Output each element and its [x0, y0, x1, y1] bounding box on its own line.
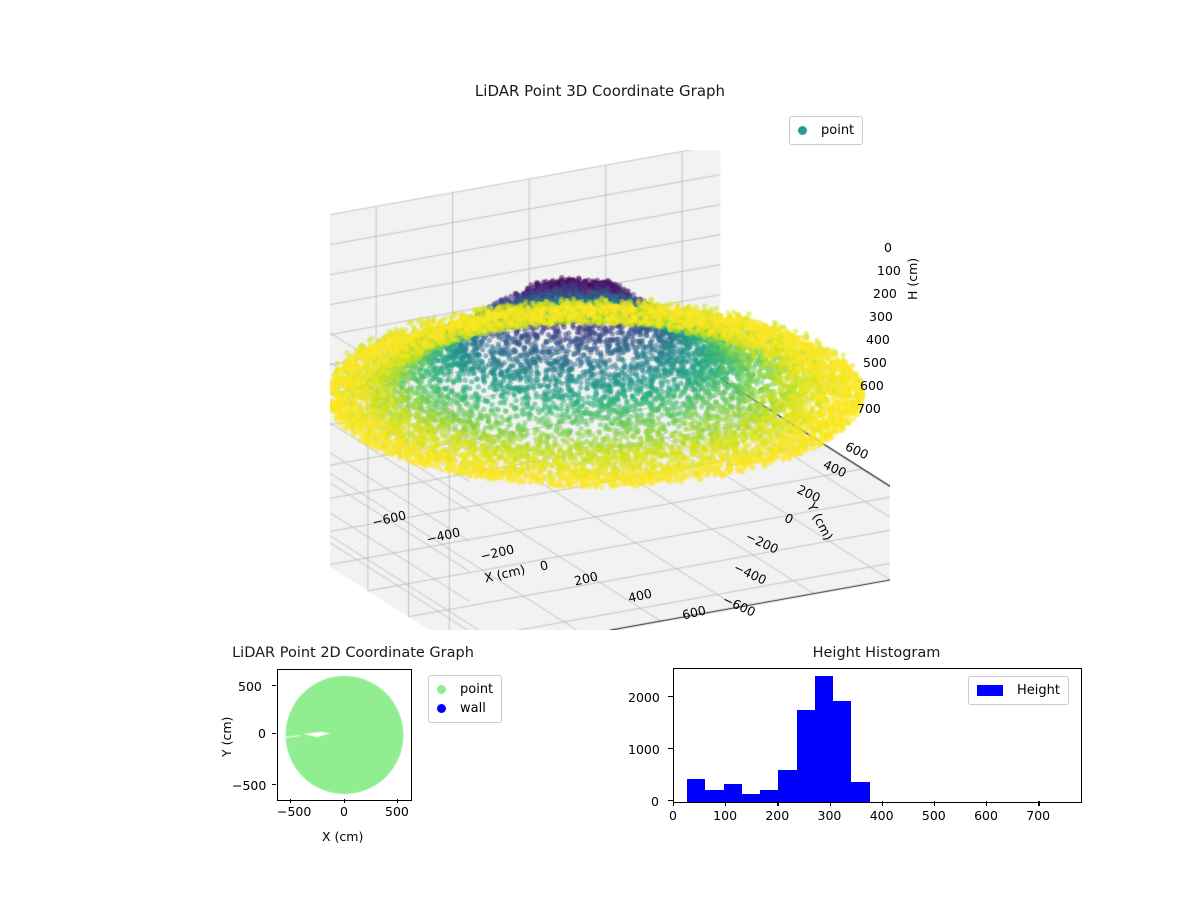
legend-item-point: point — [437, 680, 493, 699]
tick-mark — [934, 801, 935, 806]
histogram-x-tick: 200 — [765, 808, 789, 823]
histogram-legend: Height — [968, 676, 1069, 705]
tick-mark — [830, 801, 831, 806]
plot2d-y-tick: 500 — [238, 679, 262, 694]
legend-item-point: point — [798, 121, 854, 140]
plot3d-title: LiDAR Point 3D Coordinate Graph — [0, 82, 1200, 100]
histogram-bar — [760, 790, 778, 802]
z-tick: 300 — [869, 309, 893, 324]
legend-item-height: Height — [977, 681, 1060, 700]
tick-mark — [272, 685, 276, 686]
plot2d-x-tick: 0 — [340, 804, 348, 819]
histogram-x-tick: 300 — [818, 808, 842, 823]
tick-mark — [290, 799, 291, 803]
plot2d-title: LiDAR Point 2D Coordinate Graph — [208, 645, 498, 661]
plot3d-canvas — [330, 150, 890, 630]
legend-item-wall: wall — [437, 699, 493, 718]
histogram-x-tick: 600 — [974, 808, 998, 823]
histogram-y-tick: 1000 — [628, 742, 660, 757]
z-axis-label: H (cm) — [905, 258, 920, 300]
histogram-bar — [815, 676, 833, 802]
legend-label: point — [460, 682, 493, 697]
histogram-x-tick: 500 — [922, 808, 946, 823]
legend-label: wall — [460, 701, 486, 716]
tick-mark — [777, 801, 778, 806]
tick-mark — [986, 801, 987, 806]
height-swatch-icon — [977, 685, 1003, 696]
tick-mark — [668, 696, 673, 697]
tick-mark — [668, 748, 673, 749]
plot2d-canvas — [278, 670, 411, 800]
tick-mark — [272, 784, 276, 785]
point-marker-icon — [437, 685, 446, 694]
tick-mark — [272, 733, 276, 734]
z-tick: 700 — [857, 401, 881, 416]
histogram-bar — [705, 790, 723, 802]
histogram-x-tick: 0 — [669, 808, 677, 823]
matplotlib-figure: LiDAR Point 3D Coordinate Graph point 0 … — [0, 0, 1200, 900]
histogram-title: Height Histogram — [673, 645, 1080, 661]
legend-label: point — [821, 123, 854, 138]
histogram-bar — [742, 794, 760, 802]
z-tick: 500 — [863, 355, 887, 370]
histogram-bar — [724, 784, 742, 802]
tick-mark — [1038, 801, 1039, 806]
histogram-bar — [851, 782, 869, 802]
histogram-x-tick: 100 — [713, 808, 737, 823]
tick-mark — [725, 801, 726, 806]
tick-mark — [882, 801, 883, 806]
histogram-y-tick: 0 — [651, 794, 659, 809]
z-tick: 100 — [877, 263, 901, 278]
plot3d-legend: point — [789, 116, 863, 145]
tick-mark — [344, 799, 345, 803]
plot2d-legend: point wall — [428, 675, 502, 723]
z-tick: 0 — [884, 240, 892, 255]
histogram-bar — [797, 710, 815, 802]
plot2d-y-axis-label: Y (cm) — [219, 717, 234, 757]
plot2d-y-tick: 0 — [258, 726, 266, 741]
histogram-x-tick: 400 — [870, 808, 894, 823]
histogram-y-tick: 2000 — [628, 690, 660, 705]
histogram-x-tick: 700 — [1026, 808, 1050, 823]
histogram-bar — [833, 701, 851, 802]
plot2d-axes — [277, 669, 412, 801]
z-tick: 600 — [860, 378, 884, 393]
plot2d-x-tick: −500 — [277, 804, 311, 819]
plot2d-x-tick: 500 — [385, 804, 409, 819]
z-tick: 400 — [866, 332, 890, 347]
tick-mark — [397, 799, 398, 803]
histogram-bar — [687, 779, 705, 802]
tick-mark — [673, 801, 674, 806]
plot2d-y-tick: −500 — [232, 778, 266, 793]
point-marker-icon — [798, 126, 807, 135]
legend-label: Height — [1017, 683, 1060, 698]
plot2d-x-axis-label: X (cm) — [322, 829, 363, 844]
wall-marker-icon — [437, 704, 446, 713]
z-tick: 200 — [873, 286, 897, 301]
histogram-bar — [778, 770, 796, 802]
